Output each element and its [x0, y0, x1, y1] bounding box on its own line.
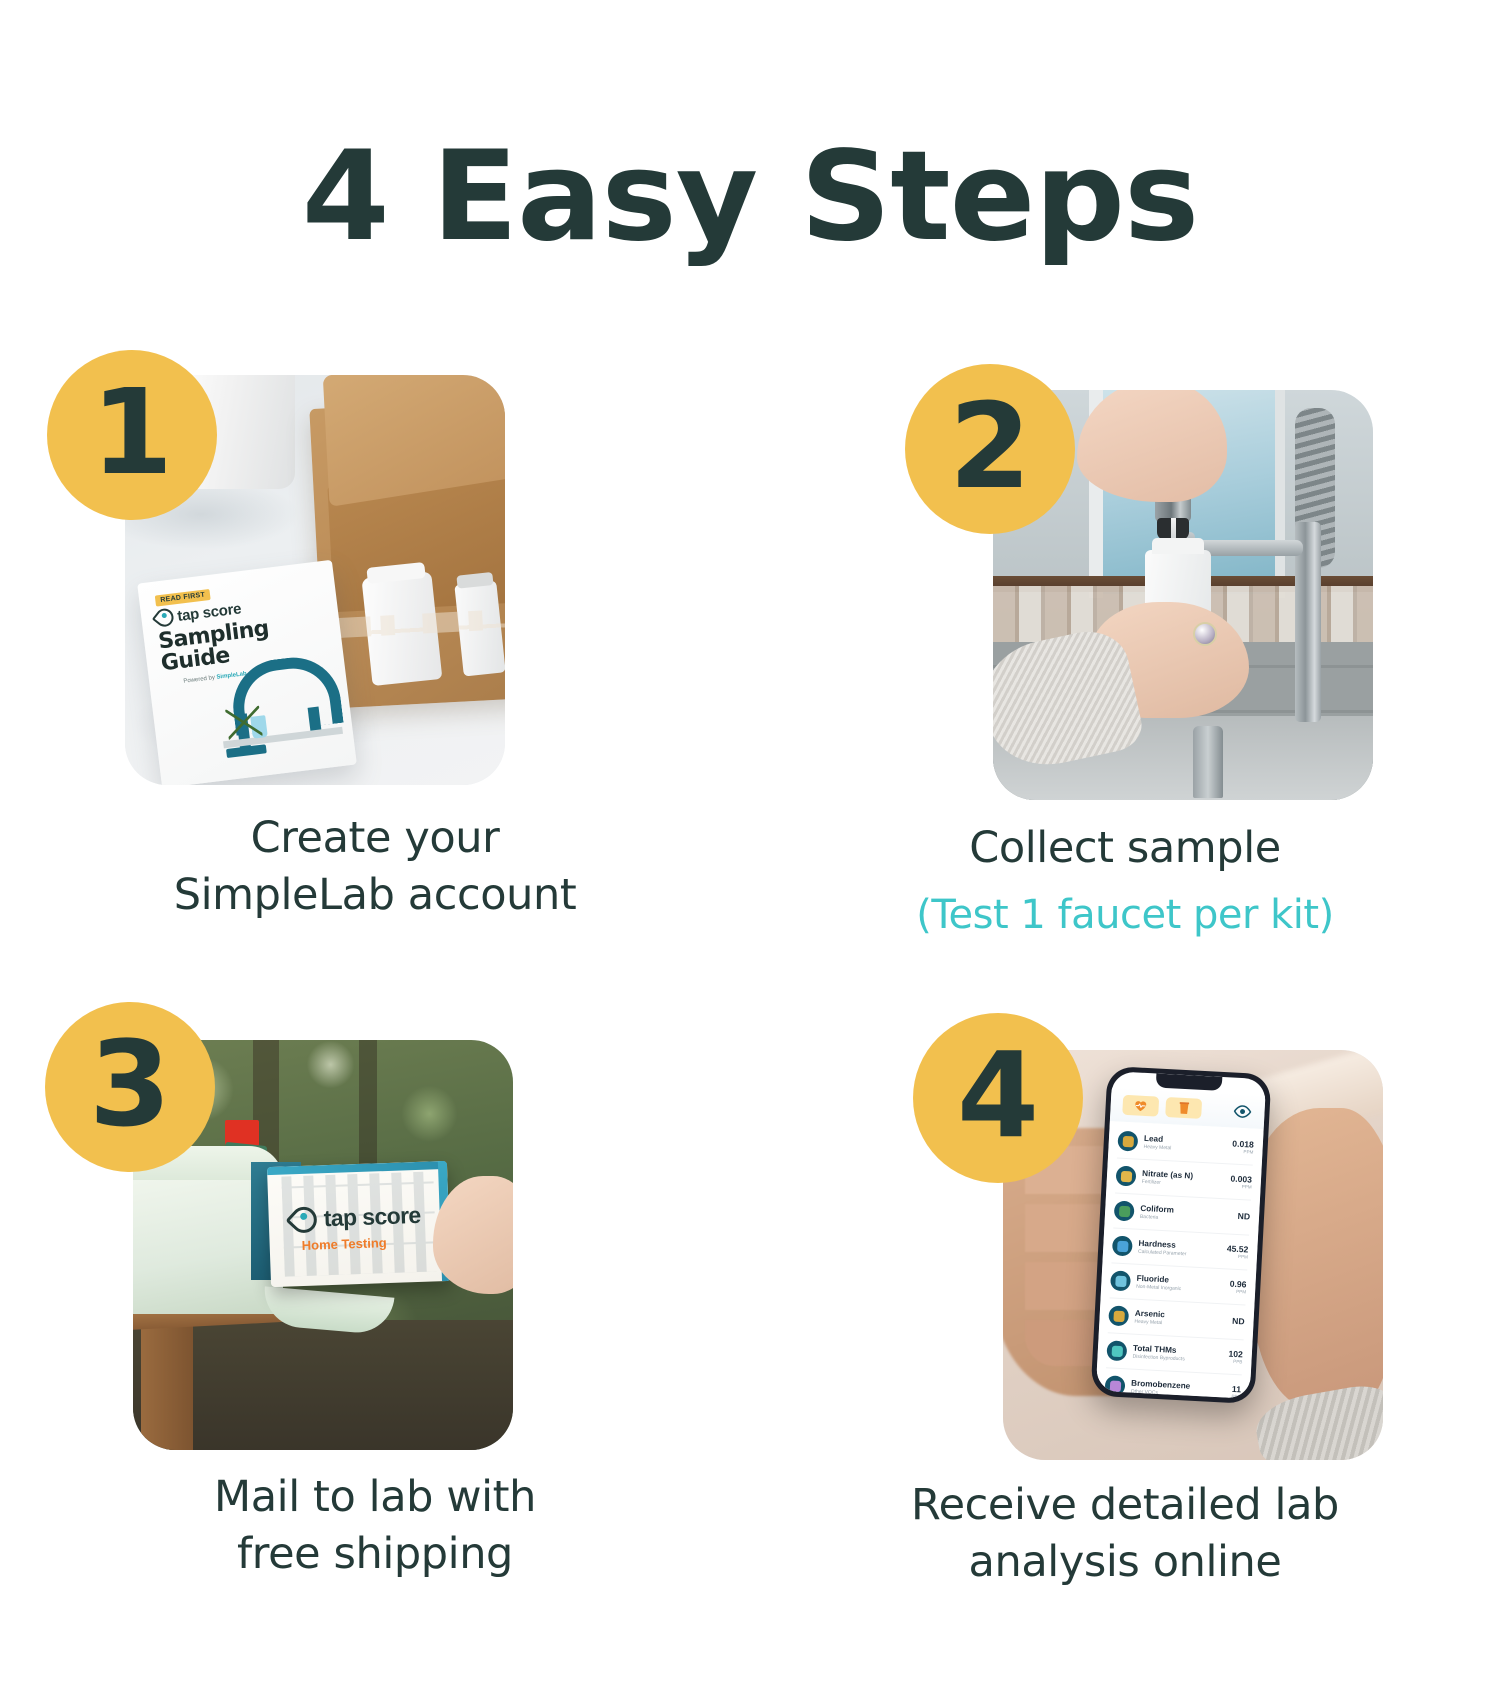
- page-title: 4 Easy Steps: [0, 83, 1500, 259]
- result-unit: PPB: [1231, 1394, 1240, 1399]
- result-unit: PPM: [1226, 1254, 1248, 1261]
- step-1: READ FIRST tap score Sampling Guide Powe…: [0, 342, 750, 1022]
- soap-dispenser: [1193, 726, 1223, 798]
- step-4-caption-line2: analysis online: [750, 1534, 1500, 1591]
- steps-grid: READ FIRST tap score Sampling Guide Powe…: [0, 342, 1500, 1702]
- step-3-caption-line1: Mail to lab with: [0, 1469, 750, 1526]
- contaminant-icon: [1114, 1201, 1135, 1222]
- step-3-caption: Mail to lab with free shipping: [0, 1469, 750, 1583]
- right-hand: [1251, 1108, 1383, 1408]
- result-unit: PPM: [1232, 1149, 1254, 1156]
- step-2: 2 Collect sample (Test 1 faucet per kit): [750, 342, 1500, 1022]
- step-3-badge: 3: [45, 1002, 215, 1172]
- contaminant-icon: [1116, 1166, 1137, 1187]
- step-2-caption: Collect sample (Test 1 faucet per kit): [750, 820, 1500, 942]
- step-3-number: 3: [89, 1025, 171, 1143]
- tap-score-logo: tap score: [290, 1202, 421, 1234]
- result-value: 102: [1228, 1349, 1243, 1359]
- contaminant-icon: [1112, 1236, 1133, 1257]
- tap-score-shipping-box: tap score Home Testing: [267, 1161, 451, 1287]
- result-value: ND: [1232, 1317, 1245, 1327]
- contaminant-name-block: ColiformBacteria: [1140, 1204, 1232, 1224]
- smartphone: LeadHeavy Metal0.018PPMNitrate (as N)Fer…: [1090, 1066, 1271, 1404]
- result-value-block: ND: [1237, 1212, 1250, 1222]
- contaminant-icon: [1108, 1305, 1129, 1326]
- step-4-number: 4: [957, 1036, 1039, 1154]
- step-2-badge: 2: [905, 364, 1075, 534]
- result-value-block: 102PPB: [1228, 1349, 1243, 1365]
- step-1-caption-line2: SimpleLab account: [0, 867, 750, 924]
- step-4: LeadHeavy Metal0.018PPMNitrate (as N)Fer…: [750, 1022, 1500, 1702]
- finger-ring: [1193, 622, 1217, 646]
- step-3: tap score Home Testing 3 Mail to lab wit…: [0, 1022, 750, 1702]
- hand-upper: [1077, 390, 1227, 502]
- four-easy-steps-page: 4 Easy Steps: [0, 83, 1500, 1583]
- result-value-block: 0.96PPM: [1229, 1279, 1246, 1295]
- view-toggle-button[interactable]: [1232, 1101, 1253, 1122]
- result-unit: PPB: [1228, 1359, 1243, 1365]
- sweater-cuff: [1252, 1381, 1383, 1461]
- step-2-number: 2: [949, 387, 1031, 505]
- window-frame-right: [1275, 390, 1285, 598]
- contaminant-icon: [1110, 1271, 1131, 1292]
- result-value-block: 45.52PPM: [1226, 1244, 1248, 1260]
- contaminant-name-block: FluorideNon-Metal Inorganic: [1136, 1274, 1224, 1294]
- heart-pulse-icon: [1133, 1100, 1148, 1113]
- step-1-caption: Create your SimpleLab account: [0, 810, 750, 924]
- cup-icon: [1178, 1101, 1190, 1115]
- contaminant-name-block: ArsenicHeavy Metal: [1134, 1309, 1226, 1329]
- step-4-badge: 4: [913, 1013, 1083, 1183]
- sampling-guide-booklet: READ FIRST tap score Sampling Guide Powe…: [137, 560, 357, 785]
- step-3-caption-line2: free shipping: [0, 1526, 750, 1583]
- contaminant-name-block: Nitrate (as N)Fertilizer: [1142, 1170, 1225, 1189]
- taste-filter-button[interactable]: [1165, 1097, 1202, 1119]
- results-list[interactable]: LeadHeavy Metal0.018PPMNitrate (as N)Fer…: [1096, 1121, 1264, 1399]
- result-unit: PPM: [1230, 1184, 1252, 1191]
- step-1-number: 1: [91, 373, 173, 491]
- step-2-subcaption: (Test 1 faucet per kit): [750, 889, 1500, 942]
- contaminant-icon: [1105, 1375, 1126, 1396]
- result-value: ND: [1237, 1212, 1250, 1222]
- phone-screen[interactable]: LeadHeavy Metal0.018PPMNitrate (as N)Fer…: [1096, 1071, 1267, 1399]
- step-1-caption-line1: Create your: [0, 810, 750, 867]
- phone-notch: [1156, 1074, 1223, 1091]
- result-unit: PPM: [1229, 1289, 1246, 1295]
- step-1-badge: 1: [47, 350, 217, 520]
- result-value-block: 0.018PPM: [1232, 1139, 1254, 1155]
- guide-faucet-illustration: [213, 649, 344, 759]
- result-value-block: 11PPB: [1231, 1385, 1241, 1399]
- powered-by-prefix: Powered by: [183, 675, 217, 685]
- contaminant-name-block: HardnessCalculated Parameter: [1138, 1239, 1221, 1258]
- contaminant-name-block: LeadHeavy Metal: [1143, 1135, 1226, 1154]
- health-filter-button[interactable]: [1122, 1095, 1159, 1117]
- contaminant-name-block: BromobenzeneOther VOCs: [1131, 1379, 1226, 1399]
- step-2-caption-line1: Collect sample: [750, 820, 1500, 877]
- result-value-block: 0.003PPM: [1230, 1174, 1252, 1190]
- contaminant-icon: [1106, 1340, 1127, 1361]
- step-4-caption-line1: Receive detailed lab: [750, 1477, 1500, 1534]
- contaminant-name-block: Total THMsDisinfection Byproducts: [1132, 1344, 1222, 1364]
- tap-score-wordmark: tap score: [323, 1202, 421, 1232]
- result-value-block: ND: [1232, 1317, 1245, 1327]
- step-4-caption: Receive detailed lab analysis online: [750, 1477, 1500, 1591]
- illustration-sprig: [225, 706, 262, 740]
- shipping-box-subtitle: Home Testing: [301, 1235, 386, 1253]
- water-drop-icon: [285, 1201, 322, 1238]
- contaminant-icon: [1117, 1131, 1138, 1152]
- eye-icon: [1233, 1104, 1252, 1118]
- kit-box-graphics: [334, 608, 505, 692]
